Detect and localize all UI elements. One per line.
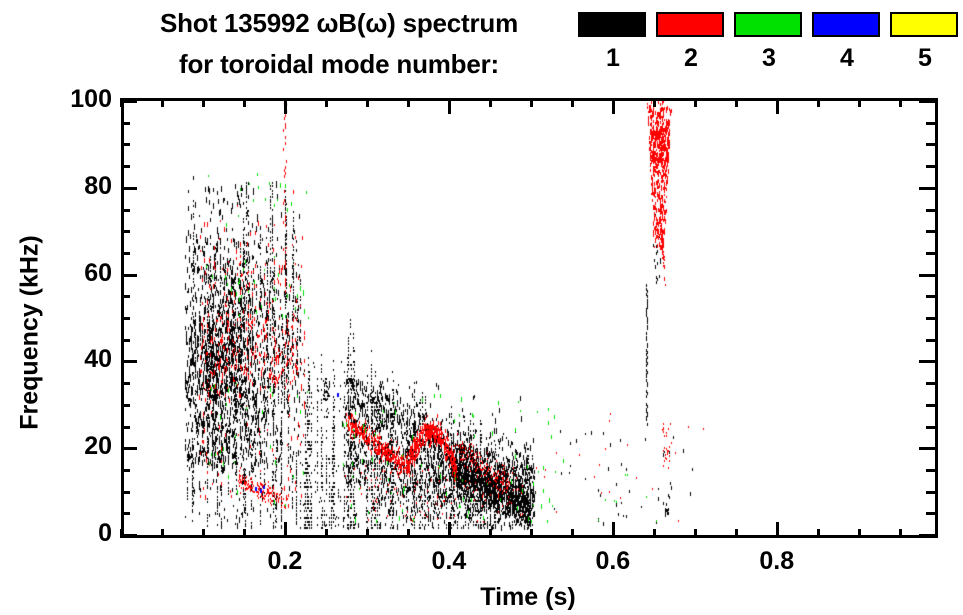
x-major-tick [612, 522, 615, 538]
y-major-tick [121, 100, 137, 103]
x-minor-tick-top [243, 98, 246, 107]
x-minor-tick [735, 529, 738, 538]
x-axis-title: Time (s) [121, 583, 935, 612]
y-minor-tick [121, 252, 130, 255]
x-major-tick [776, 522, 779, 538]
y-tick-label-0: 0 [48, 521, 112, 546]
y-minor-tick-right [926, 512, 935, 515]
legend-entry-3: 3 [734, 12, 804, 86]
x-major-tick [284, 522, 287, 538]
x-minor-tick-top [653, 98, 656, 107]
y-tick-label-40: 40 [48, 347, 112, 372]
y-minor-tick-right [926, 404, 935, 407]
legend-label-3: 3 [734, 46, 804, 71]
x-minor-tick [653, 529, 656, 538]
legend-swatch-3 [734, 12, 802, 37]
x-tick-label-0.8: 0.8 [737, 549, 817, 574]
y-minor-tick-right [926, 230, 935, 233]
y-major-tick [121, 187, 137, 190]
legend-label-1: 1 [578, 46, 648, 71]
axis-right-rule [935, 98, 938, 535]
y-minor-tick [121, 122, 130, 125]
y-minor-tick [121, 295, 130, 298]
x-minor-tick-top [161, 98, 164, 107]
x-minor-tick-top [899, 98, 902, 107]
y-minor-tick-right [926, 317, 935, 320]
x-minor-tick-top [817, 98, 820, 107]
x-minor-tick [530, 529, 533, 538]
y-major-tick [121, 534, 137, 537]
y-minor-tick-right [926, 382, 935, 385]
legend-entry-1: 1 [578, 12, 648, 86]
y-minor-tick [121, 404, 130, 407]
x-minor-tick [161, 529, 164, 538]
y-major-tick [121, 274, 137, 277]
y-minor-tick [121, 426, 130, 429]
legend-label-5: 5 [890, 46, 960, 71]
title-text-line-1: Shot 135992 ωB(ω) spectrum [160, 8, 518, 38]
x-minor-tick [120, 529, 123, 538]
x-major-tick [448, 522, 451, 538]
y-major-tick-right [919, 274, 935, 277]
y-tick-label-60: 60 [48, 261, 112, 286]
x-minor-tick [817, 529, 820, 538]
y-minor-tick-right [926, 426, 935, 429]
x-minor-tick [899, 529, 902, 538]
x-minor-tick [366, 529, 369, 538]
x-minor-tick-top [694, 98, 697, 107]
legend-swatch-2 [656, 12, 724, 37]
y-major-tick-right [919, 100, 935, 103]
legend-swatch-5 [890, 12, 958, 37]
y-tick-label-100: 100 [48, 87, 112, 112]
y-minor-tick [121, 165, 130, 168]
x-minor-tick-top [735, 98, 738, 107]
legend-label-4: 4 [812, 46, 882, 71]
x-minor-tick-top [858, 98, 861, 107]
x-minor-tick-top [489, 98, 492, 107]
y-major-tick-right [919, 187, 935, 190]
y-axis-title: Frequency (kHz) [16, 153, 45, 513]
y-tick-label-group: 020406080100 [42, 0, 112, 615]
plot-area [121, 101, 938, 538]
legend-label-2: 2 [656, 46, 726, 71]
x-minor-tick [407, 529, 410, 538]
y-minor-tick-right [926, 252, 935, 255]
y-minor-tick-right [926, 165, 935, 168]
y-minor-tick [121, 209, 130, 212]
x-major-tick-top [776, 98, 779, 114]
x-minor-tick [325, 529, 328, 538]
x-minor-tick [202, 529, 205, 538]
x-major-tick-top [284, 98, 287, 114]
y-minor-tick-right [926, 122, 935, 125]
legend-swatch-1 [578, 12, 646, 37]
y-minor-tick [121, 469, 130, 472]
x-minor-tick [694, 529, 697, 538]
x-minor-tick-top [325, 98, 328, 107]
x-minor-tick [243, 529, 246, 538]
y-minor-tick [121, 382, 130, 385]
x-minor-tick [489, 529, 492, 538]
x-minor-tick [571, 529, 574, 538]
y-minor-tick-right [926, 491, 935, 494]
x-minor-tick-top [366, 98, 369, 107]
y-minor-tick [121, 339, 130, 342]
y-minor-tick [121, 230, 130, 233]
y-minor-tick [121, 491, 130, 494]
legend-entry-4: 4 [812, 12, 882, 86]
y-major-tick [121, 360, 137, 363]
y-minor-tick [121, 143, 130, 146]
y-minor-tick [121, 512, 130, 515]
x-minor-tick-top [407, 98, 410, 107]
x-minor-tick-top [530, 98, 533, 107]
x-minor-tick-top [202, 98, 205, 107]
y-tick-label-20: 20 [48, 434, 112, 459]
figure-title-line-1: Shot 135992 ωB(ω) spectrum [104, 8, 574, 39]
x-minor-tick-top [571, 98, 574, 107]
x-major-tick-top [448, 98, 451, 114]
y-minor-tick [121, 317, 130, 320]
y-minor-tick-right [926, 295, 935, 298]
spectrogram-figure: Shot 135992 ωB(ω) spectrum for toroidal … [0, 0, 963, 615]
x-minor-tick [858, 529, 861, 538]
x-tick-label-0.2: 0.2 [245, 549, 325, 574]
y-minor-tick-right [926, 143, 935, 146]
y-tick-label-80: 80 [48, 174, 112, 199]
y-major-tick [121, 447, 137, 450]
y-major-tick-right [919, 534, 935, 537]
y-minor-tick-right [926, 339, 935, 342]
x-minor-tick-top [120, 98, 123, 107]
legend: 12345 [578, 12, 958, 92]
spectrogram-scatter-canvas [124, 101, 938, 535]
legend-entry-5: 5 [890, 12, 960, 86]
y-minor-tick-right [926, 469, 935, 472]
x-tick-label-0.6: 0.6 [573, 549, 653, 574]
x-tick-label-0.4: 0.4 [409, 549, 489, 574]
y-minor-tick-right [926, 209, 935, 212]
legend-swatch-4 [812, 12, 880, 37]
x-major-tick-top [612, 98, 615, 114]
y-major-tick-right [919, 360, 935, 363]
y-major-tick-right [919, 447, 935, 450]
legend-entry-2: 2 [656, 12, 726, 86]
figure-title-line-2: for toroidal mode number: [104, 49, 574, 80]
